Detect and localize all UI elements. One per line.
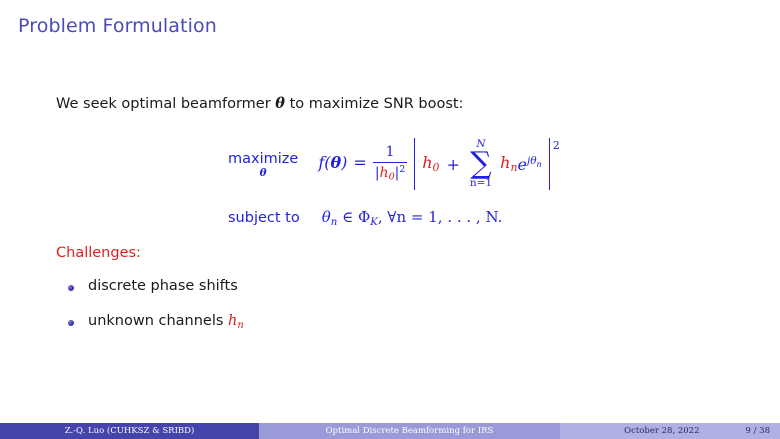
denominator-power: 2 — [399, 164, 405, 175]
exp-power-subscript: n — [537, 160, 542, 169]
exp-power: jθ — [527, 155, 537, 167]
magnitude-expression: h0 + N ∑ n=1 hn ejθn 2 — [407, 138, 559, 190]
h0-symbol: h — [422, 153, 432, 172]
objective-theta: θ — [330, 153, 341, 172]
hn-subscript: n — [510, 162, 517, 175]
abs-bar-left — [414, 138, 415, 190]
list-item: discrete phase shifts — [68, 278, 244, 296]
page-title: Problem Formulation — [18, 15, 217, 37]
challenges-list: discrete phase shifts unknown channels h… — [68, 278, 244, 348]
exp-base: e — [517, 155, 526, 174]
sum-lower-limit: n=1 — [470, 178, 492, 189]
objective-row: maximize θ f(θ) = 1 |h0|2 h0 + N — [228, 138, 560, 196]
bullet-icon — [68, 285, 74, 291]
constraint-theta: θ — [322, 208, 331, 226]
constraint-membership: ∈ Φ — [337, 208, 370, 226]
phase-exponential: ejθn — [517, 155, 541, 174]
term-hn: hn — [500, 153, 517, 174]
inner-sum-expression: h0 + N ∑ n=1 hn ejθn — [422, 138, 541, 190]
sum-sigma-icon: ∑ — [470, 150, 491, 179]
slide-canvas: Problem Formulation We seek optimal beam… — [0, 0, 780, 439]
list-item-label: discrete phase shifts — [88, 278, 238, 294]
intro-sentence: We seek optimal beamformer θ to maximize… — [56, 95, 463, 112]
h0-subscript: 0 — [433, 162, 440, 175]
prefactor-fraction: 1 |h0|2 — [373, 144, 407, 184]
maximize-operator: maximize θ — [228, 152, 298, 179]
optimization-problem: maximize θ f(θ) = 1 |h0|2 h0 + N — [228, 138, 560, 228]
abs-bar-right — [549, 138, 550, 190]
fraction-numerator: 1 — [383, 144, 398, 160]
challenges-heading: Challenges: — [56, 245, 141, 261]
footer-talk-title: Optimal Discrete Beamforming for IRS — [259, 423, 560, 439]
footer-date: October 28, 2022 — [624, 426, 699, 436]
footer-page-number: 9 / 38 — [746, 426, 771, 436]
constraint-row: subject to θn ∈ ΦK, ∀n = 1, . . . , N. — [228, 208, 560, 228]
intro-text-after: to maximize SNR boost: — [285, 96, 464, 112]
equals-sign: = — [353, 153, 366, 172]
bullet-icon — [68, 320, 74, 326]
plus-sign: + — [446, 155, 459, 174]
list-item-label: unknown channels — [88, 313, 228, 329]
fraction-denominator: |h0|2 — [373, 165, 407, 184]
fraction-bar — [373, 162, 407, 163]
constraint-expression: θn ∈ ΦK, ∀n = 1, . . . , N. — [322, 208, 503, 228]
maximize-subscript: θ — [260, 168, 267, 180]
summation-operator: N ∑ n=1 — [470, 139, 492, 189]
list-item-math: h — [228, 313, 237, 329]
slide-footer: Z.-Q. Luo (CUHKSZ & SRIBD) Optimal Discr… — [0, 423, 780, 439]
intro-text-before: We seek optimal beamformer — [56, 96, 275, 112]
constraint-phi-sub: K — [370, 217, 378, 228]
maximize-label: maximize — [228, 152, 298, 167]
constraint-tail: , ∀n = 1, . . . , N. — [378, 208, 503, 226]
objective-function: f(θ) — [318, 153, 347, 172]
denominator-h: h — [380, 165, 389, 181]
subject-to-label: subject to — [228, 210, 300, 226]
list-item: unknown channels hn — [68, 313, 244, 331]
hn-symbol: h — [500, 153, 510, 172]
theta-symbol: θ — [275, 95, 285, 112]
objective-f-open: f( — [318, 153, 330, 172]
objective-f-close: ) — [341, 153, 347, 172]
term-h0: h0 — [422, 153, 439, 174]
footer-meta: October 28, 2022 9 / 38 — [560, 423, 780, 439]
list-item-math-sub: n — [237, 320, 243, 331]
footer-author: Z.-Q. Luo (CUHKSZ & SRIBD) — [0, 423, 259, 439]
magnitude-power: 2 — [553, 139, 560, 152]
